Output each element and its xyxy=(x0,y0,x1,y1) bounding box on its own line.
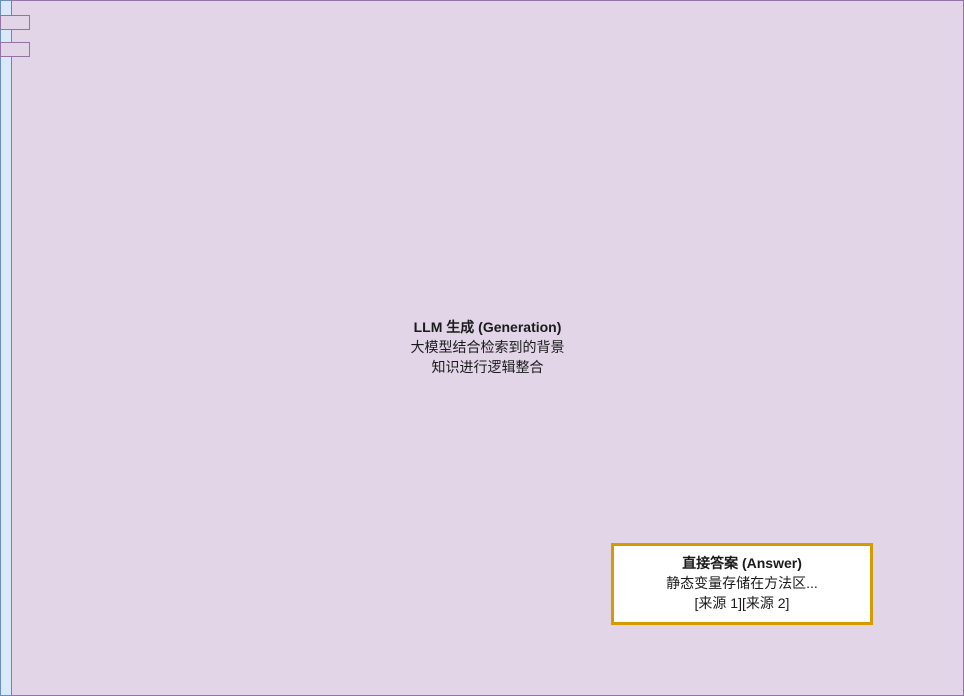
node-llm-generation-line2: 大模型结合检索到的背景 xyxy=(411,338,565,358)
node-llm-generation[interactable]: LLM 生成 (Generation) 大模型结合检索到的背景 知识进行逻辑整合 xyxy=(0,88,273,166)
diagram-canvas: RAG vs 传统搜索引擎 公众号：JavaGuide 网站：javaguide… xyxy=(0,0,964,696)
node-direct-answer-sources: [来源 1][来源 2] xyxy=(695,594,790,614)
node-direct-answer-line2: 静态变量存储在方法区... xyxy=(666,574,818,594)
node-llm-generation-line3: 知识进行逻辑整合 xyxy=(432,358,544,378)
node-llm-generation-title: LLM 生成 (Generation) xyxy=(414,318,562,338)
node-direct-answer-title: 直接答案 (Answer) xyxy=(682,554,802,574)
node-direct-answer[interactable]: 直接答案 (Answer) 静态变量存储在方法区... [来源 1][来源 2] xyxy=(611,543,873,625)
